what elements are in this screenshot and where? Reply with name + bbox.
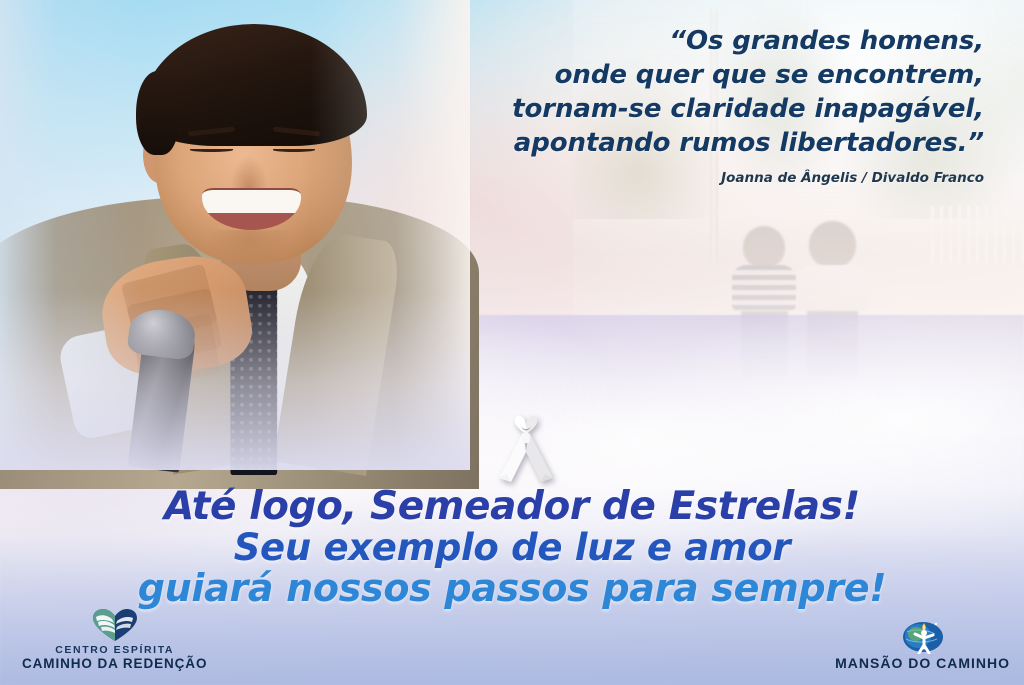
white-ribbon-icon <box>493 412 559 486</box>
logo-centro-espirita-caminho-da-redencao[interactable]: CENTRO ESPÍRITA CAMINHO DA REDENÇÃO <box>22 608 207 671</box>
headline-line-3: guiará nossos passos para sempre! <box>0 569 1024 608</box>
portrait-fade-overlay <box>0 0 470 470</box>
portrait-photo <box>0 0 470 470</box>
headline-line-2: Seu exemplo de luz e amor <box>0 529 1024 567</box>
logo-mc-line-2: MANSÃO DO CAMINHO <box>835 656 1010 671</box>
hands-heart-icon <box>92 608 138 642</box>
globe-figure-flame-icon <box>902 614 944 654</box>
headline-block: Até logo, Semeador de Estrelas! Seu exem… <box>0 487 1024 607</box>
logo-mansao-do-caminho[interactable]: MANSÃO DO CAMINHO <box>835 614 1010 671</box>
quote-line-2: onde quer que se encontrem, <box>424 58 984 92</box>
quote-line-4: apontando rumos libertadores.” <box>424 126 984 160</box>
quote-block: “Os grandes homens, onde quer que se enc… <box>424 24 984 186</box>
quote-line-1: “Os grandes homens, <box>424 24 984 58</box>
logo-cecr-line-2: CAMINHO DA REDENÇÃO <box>22 656 207 671</box>
quote-attribution: Joanna de Ângelis / Divaldo Franco <box>424 170 984 186</box>
headline-line-1: Até logo, Semeador de Estrelas! <box>0 487 1024 527</box>
quote-line-3: tornam-se claridade inapagável, <box>424 92 984 126</box>
logo-cecr-line-1: CENTRO ESPÍRITA <box>55 644 174 656</box>
memorial-poster: “Os grandes homens, onde quer que se enc… <box>0 0 1024 685</box>
